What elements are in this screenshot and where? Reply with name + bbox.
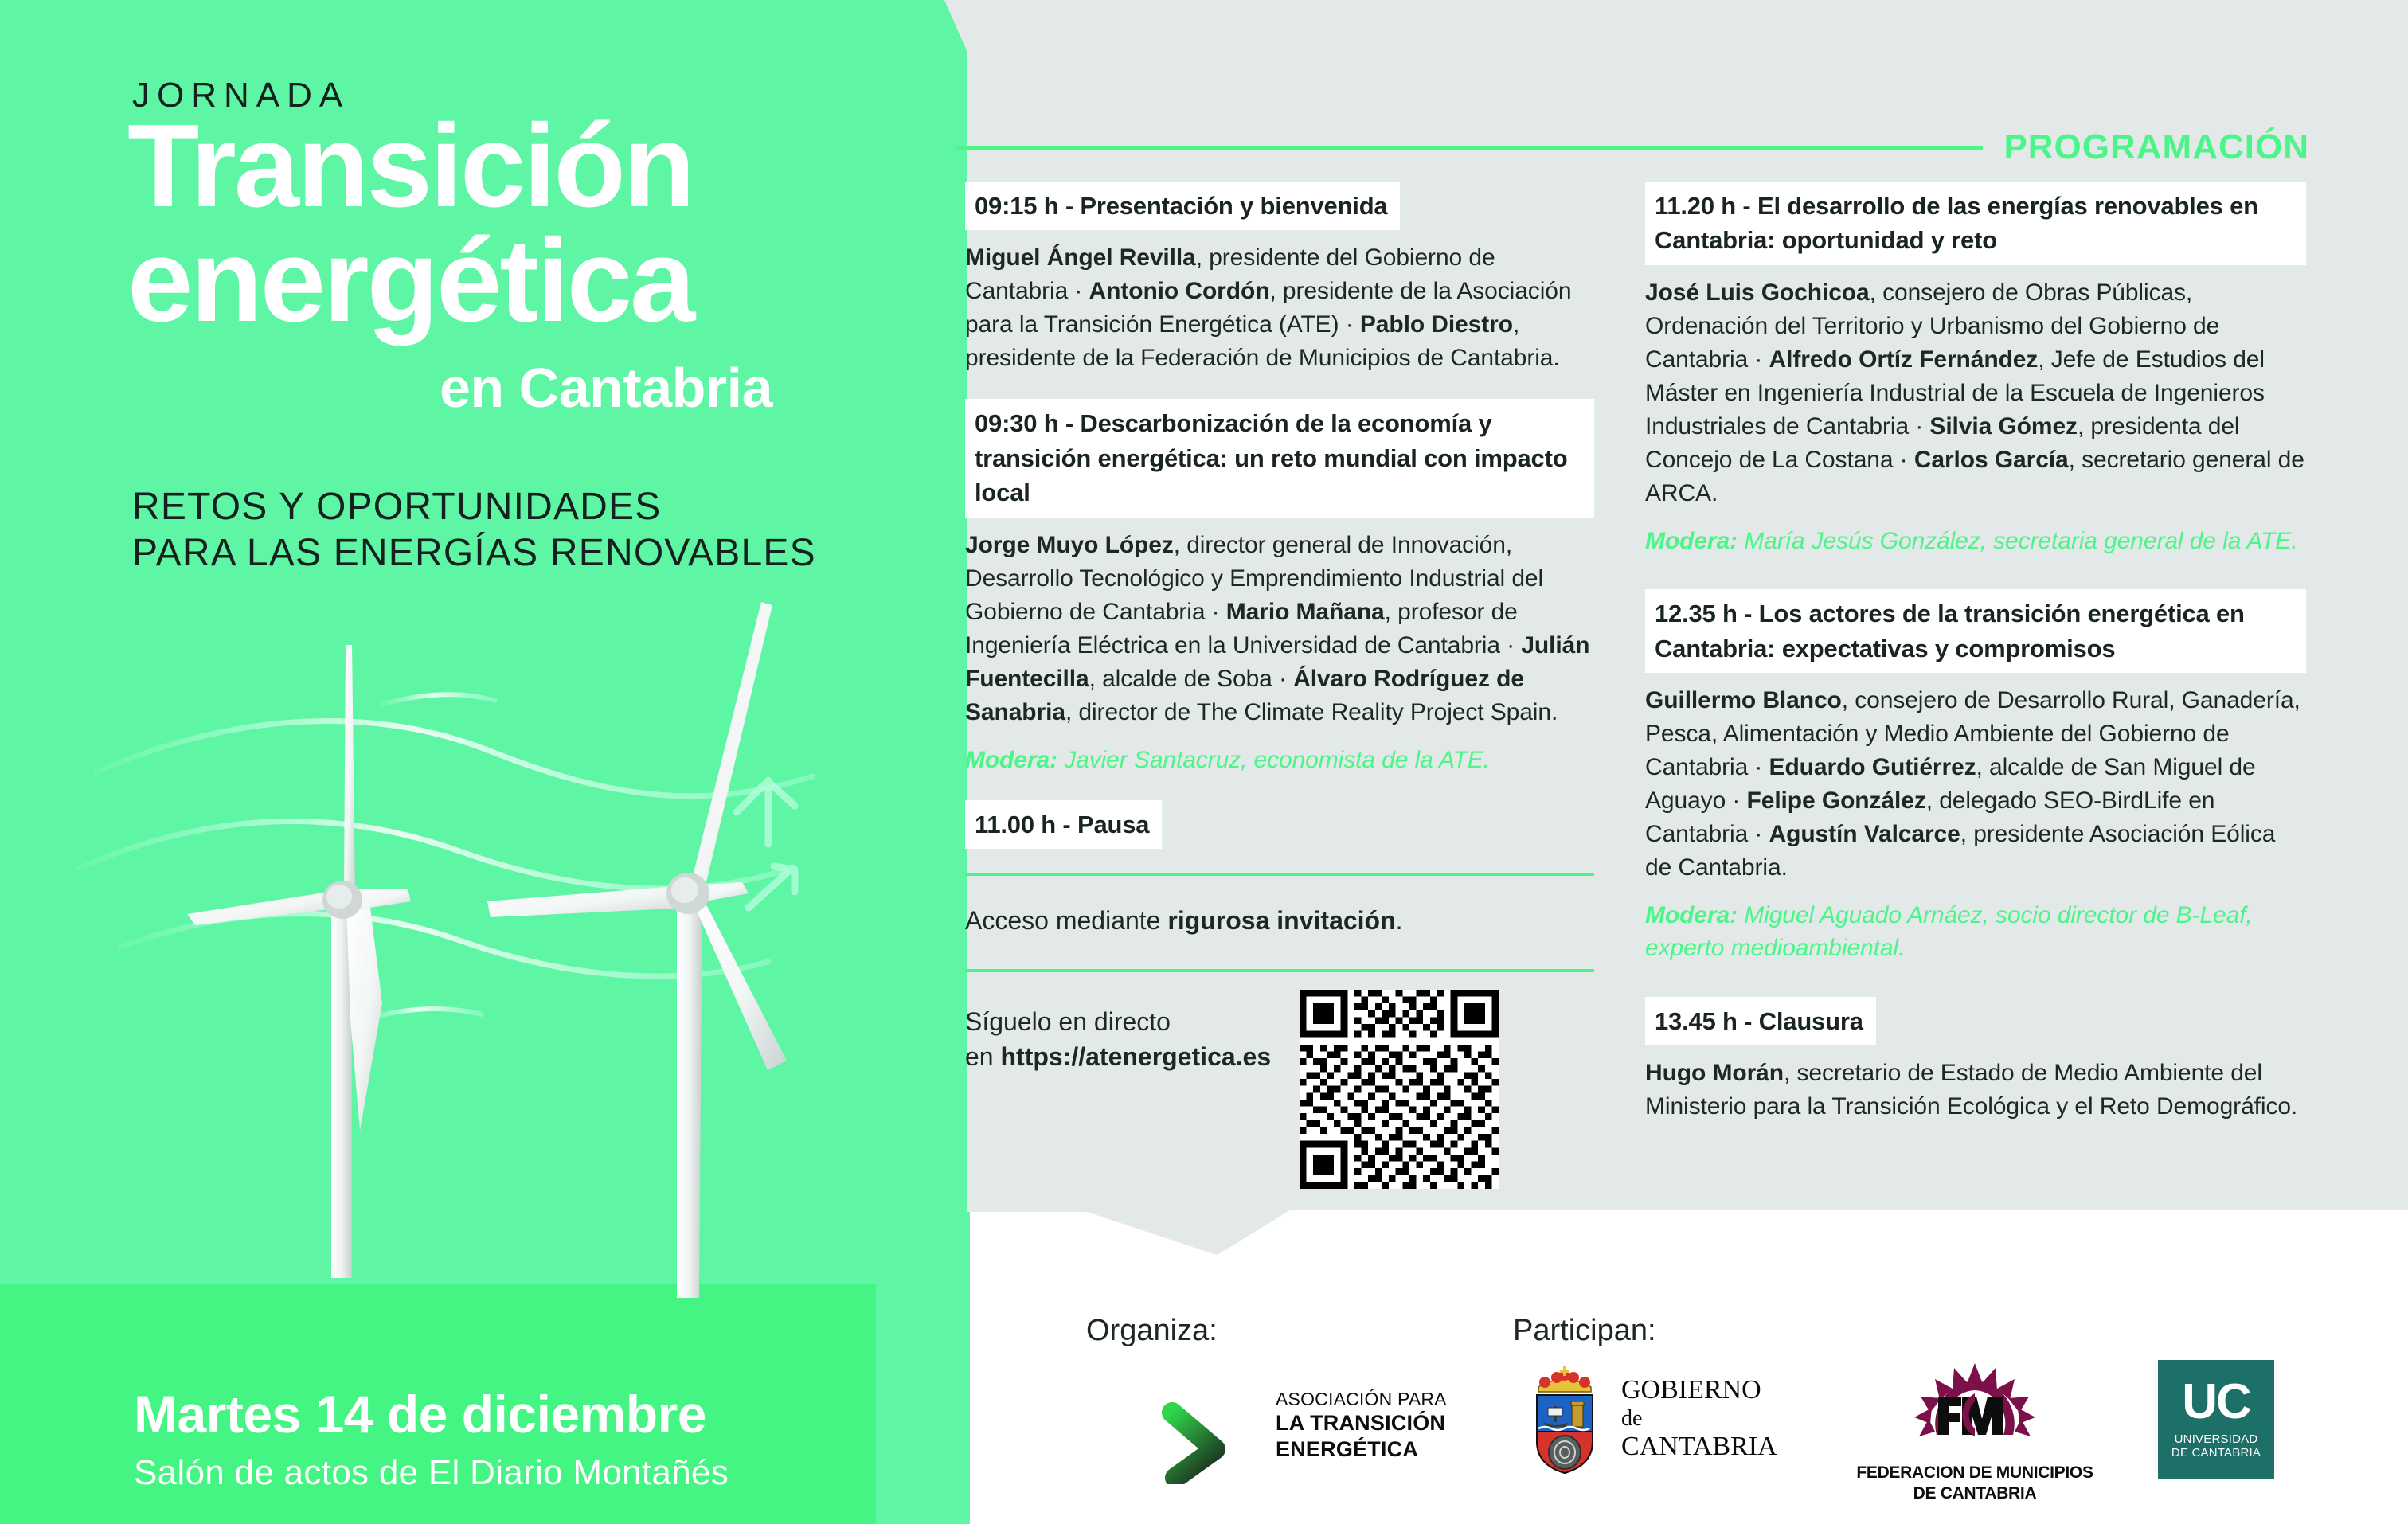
ate-line-2: LA TRANSICIÓN xyxy=(1276,1410,1447,1436)
session-speakers: Miguel Ángel Revilla, presidente del Gob… xyxy=(965,241,1594,375)
session-1345: 13.45 h - Clausura Hugo Morán, secretari… xyxy=(1645,997,2306,1123)
event-date: Martes 14 de diciembre xyxy=(134,1385,729,1444)
programme-header: PROGRAMACIÓN xyxy=(956,119,2309,175)
left-hero-panel: JORNADA Transición energética en Cantabr… xyxy=(0,0,970,1524)
session-speakers: Hugo Morán, secretario de Estado de Medi… xyxy=(1645,1057,2306,1123)
title-subtitle: en Cantabria xyxy=(127,356,940,420)
live-stream-row: Síguelo en directo en https://atenergeti… xyxy=(965,990,1594,1189)
programme-rule xyxy=(956,146,1983,150)
programme-columns: 09:15 h - Presentación y bienvenida Migu… xyxy=(965,182,2351,1241)
logo-federacion-municipios: FEDERACION DE MUNICIPIOS DE CANTABRIA xyxy=(1855,1360,2094,1503)
footer-logos: Organiza: Participan: xyxy=(1051,1298,2405,1521)
fmc-line-2: DE CANTABRIA xyxy=(1855,1483,2094,1504)
session-0930: 09:30 h - Descarbonización de la economí… xyxy=(965,399,1594,776)
access-note: Acceso mediante rigurosa invitación. xyxy=(965,893,1594,952)
divider-rule-bottom xyxy=(965,969,1594,972)
session-moderator: Modera: María Jesús González, secretaria… xyxy=(1645,525,2306,557)
tagline-line-2: PARA LAS ENERGÍAS RENOVABLES xyxy=(132,530,816,576)
session-speakers: Jorge Muyo López, director general de In… xyxy=(965,529,1594,729)
session-title: 11.20 h - El desarrollo de las energías … xyxy=(1645,182,2306,265)
gobierno-line-3: CANTABRIA xyxy=(1621,1432,1777,1463)
ate-wordmark: ASOCIACIÓN PARA LA TRANSICIÓN ENERGÉTICA xyxy=(1276,1388,1447,1463)
uc-wordmark: UNIVERSIDAD DE CANTABRIA xyxy=(2171,1432,2261,1460)
event-venue: Salón de actos de El Diario Montañés xyxy=(134,1453,729,1493)
uc-mark: UC xyxy=(2182,1379,2250,1426)
session-title: 13.45 h - Clausura xyxy=(1645,997,1876,1045)
session-moderator: Modera: Miguel Aguado Arnáez, socio dire… xyxy=(1645,899,2306,965)
session-title: 09:15 h - Presentación y bienvenida xyxy=(965,182,1400,230)
programme-label: PROGRAMACIÓN xyxy=(2003,127,2309,167)
organiza-label: Organiza: xyxy=(1086,1314,1218,1348)
uc-line-2: DE CANTABRIA xyxy=(2171,1446,2261,1460)
ate-line-1: ASOCIACIÓN PARA xyxy=(1276,1388,1447,1410)
logo-gobierno-cantabria: GOBIERNO de CANTABRIA xyxy=(1521,1363,1777,1475)
fmc-wordmark: FEDERACION DE MUNICIPIOS DE CANTABRIA xyxy=(1855,1463,2094,1503)
session-1120: 11.20 h - El desarrollo de las energías … xyxy=(1645,182,2306,557)
title-block: Transición energética en Cantabria xyxy=(127,111,940,420)
live-line-2: en https://atenergetica.es xyxy=(965,1039,1271,1074)
gobierno-wordmark: GOBIERNO de CANTABRIA xyxy=(1621,1375,1777,1462)
logo-ate: ASOCIACIÓN PARA LA TRANSICIÓN ENERGÉTICA xyxy=(1139,1366,1447,1484)
programme-column-right: 11.20 h - El desarrollo de las energías … xyxy=(1645,182,2306,1241)
live-stream-text: Síguelo en directo en https://atenergeti… xyxy=(965,990,1271,1074)
fcm-sunburst-icon xyxy=(1855,1360,2094,1454)
live-url[interactable]: https://atenergetica.es xyxy=(1000,1042,1271,1071)
uc-line-1: UNIVERSIDAD xyxy=(2171,1432,2261,1447)
gobierno-line-1: GOBIERNO xyxy=(1621,1375,1777,1406)
session-moderator: Modera: Javier Santacruz, economista de … xyxy=(965,744,1594,776)
event-date-block: Martes 14 de diciembre Salón de actos de… xyxy=(134,1385,729,1493)
session-title: 11.00 h - Pausa xyxy=(965,800,1162,849)
session-title: 12.35 h - Los actores de la transición e… xyxy=(1645,589,2306,673)
divider-rule-top xyxy=(965,873,1594,876)
programme-column-left: 09:15 h - Presentación y bienvenida Migu… xyxy=(965,182,1594,1241)
session-1235: 12.35 h - Los actores de la transición e… xyxy=(1645,589,2306,965)
ate-chevron-icon xyxy=(1139,1366,1258,1484)
title-line-1: Transición xyxy=(127,111,940,221)
logo-universidad-cantabria: UC UNIVERSIDAD DE CANTABRIA xyxy=(2158,1360,2274,1479)
session-0915: 09:15 h - Presentación y bienvenida Migu… xyxy=(965,182,1594,375)
fmc-line-1: FEDERACION DE MUNICIPIOS xyxy=(1855,1463,2094,1483)
title-line-2: energética xyxy=(127,226,940,336)
participan-label: Participan: xyxy=(1513,1314,1656,1348)
session-1100-pausa: 11.00 h - Pausa xyxy=(965,800,1594,849)
gobierno-line-2: de xyxy=(1621,1406,1777,1432)
qr-code[interactable] xyxy=(1300,990,1499,1189)
live-line-1: Síguelo en directo xyxy=(965,1004,1271,1039)
cantabria-coat-of-arms-icon xyxy=(1521,1363,1609,1475)
live-prefix: en xyxy=(965,1042,1000,1071)
poster-canvas: JORNADA Transición energética en Cantabr… xyxy=(0,0,2408,1524)
ate-line-3: ENERGÉTICA xyxy=(1276,1436,1447,1463)
tagline-line-1: RETOS Y OPORTUNIDADES xyxy=(132,484,816,530)
session-speakers: Guillermo Blanco, consejero de Desarroll… xyxy=(1645,684,2306,885)
session-speakers: José Luis Gochicoa, consejero de Obras P… xyxy=(1645,276,2306,510)
tagline: RETOS Y OPORTUNIDADES PARA LAS ENERGÍAS … xyxy=(132,484,816,576)
session-title: 09:30 h - Descarbonización de la economí… xyxy=(965,399,1594,517)
